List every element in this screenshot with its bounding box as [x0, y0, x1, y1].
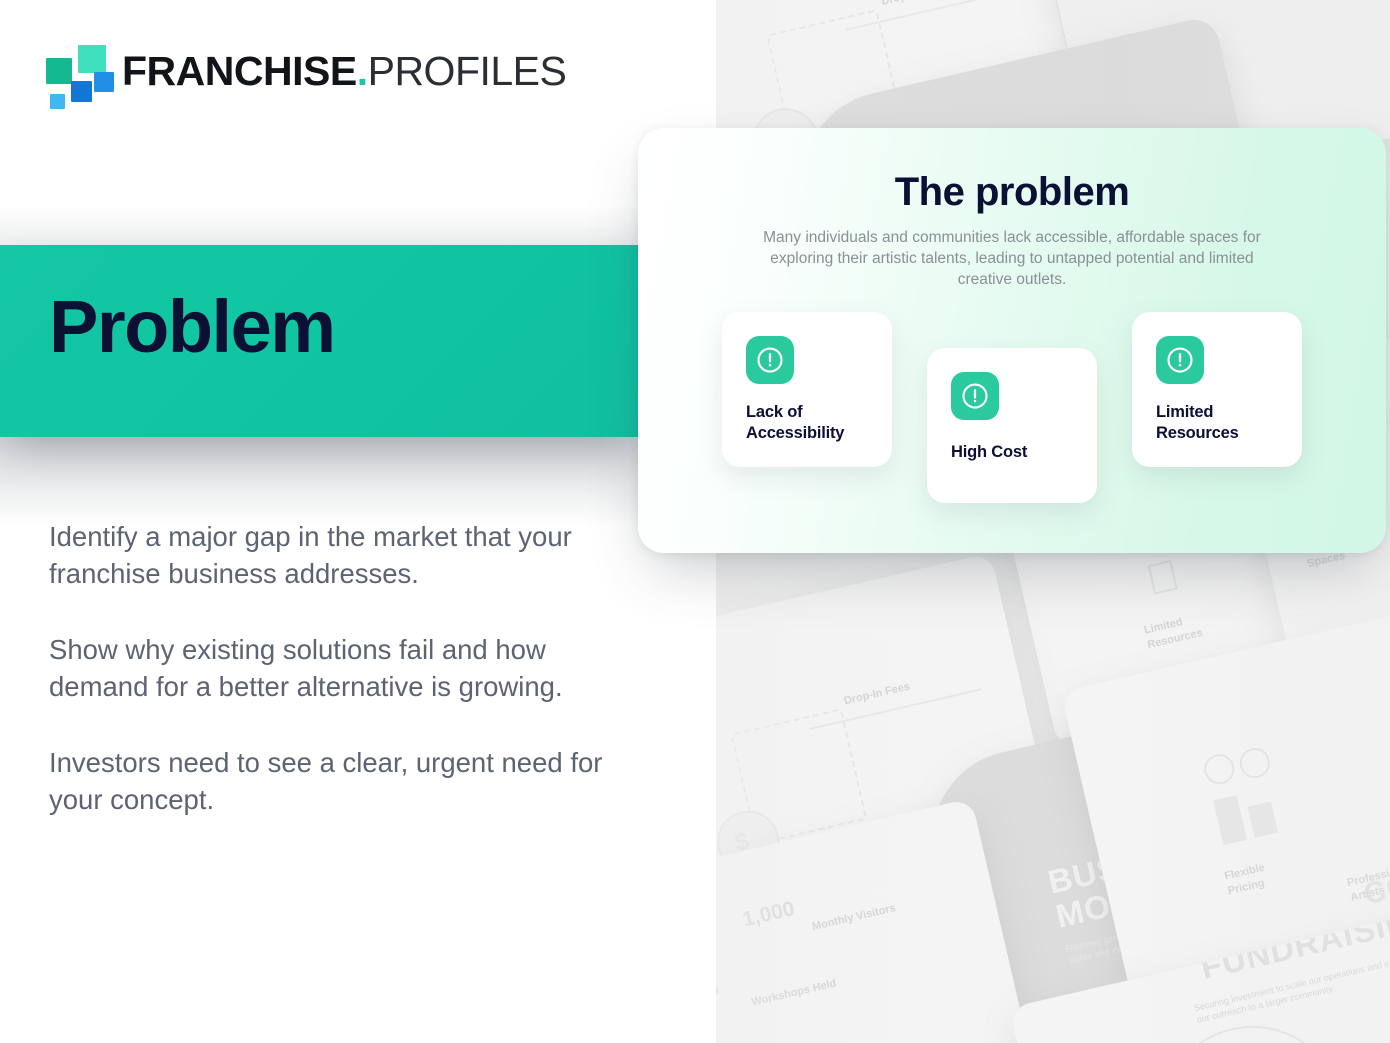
logo-squares-icon	[46, 44, 104, 98]
problem-tile-high-cost[interactable]: High Cost	[927, 348, 1097, 503]
alert-circle-icon	[951, 372, 999, 420]
description-text: Identify a major gap in the market that …	[49, 518, 619, 818]
description-paragraph-1: Identify a major gap in the market that …	[49, 518, 619, 592]
problem-tile-label: High Cost	[951, 442, 1083, 463]
left-content-panel: FRANCHISE.PROFILES Problem Identify a ma…	[0, 0, 716, 1043]
page-title: Problem	[49, 290, 335, 364]
bg-stat-number-2: 75	[716, 976, 722, 1005]
card-subtitle: Many individuals and communities lack ac…	[759, 227, 1265, 290]
slide-canvas: $ Drop-In Fees Session Workshops Commiss…	[0, 0, 1390, 1043]
bg-text-drop-in-fees-2: Drop-In Fees	[843, 681, 911, 708]
problem-tile-label: Lack of Accessibility	[746, 402, 878, 444]
band-shadow-bottom	[0, 437, 660, 527]
problem-tile-label: Limited Resources	[1156, 402, 1288, 444]
bg-text-limited-resources: Limited Resources	[1143, 604, 1237, 653]
brand-logo[interactable]: FRANCHISE.PROFILES	[46, 44, 566, 98]
bg-text-flexible-pricing: Flexible Pricing	[1223, 856, 1292, 900]
brand-name-bold: FRANCHISE	[122, 48, 357, 94]
problem-tile-limited-resources[interactable]: Limited Resources	[1132, 312, 1302, 467]
problem-tile-lack-of-accessibility[interactable]: Lack of Accessibility	[722, 312, 892, 467]
alert-circle-icon	[746, 336, 794, 384]
brand-wordmark: FRANCHISE.PROFILES	[122, 51, 566, 92]
band-shadow-top	[0, 205, 660, 247]
problem-preview-card[interactable]: The problem Many individuals and communi…	[638, 128, 1386, 553]
bg-stat-label-2: Workshops Held	[750, 977, 837, 1008]
alert-circle-icon	[1156, 336, 1204, 384]
brand-name-dot: .	[357, 48, 368, 94]
bg-stat-number-1: 1,000	[740, 897, 797, 932]
card-title: The problem	[638, 170, 1386, 215]
description-paragraph-3: Investors need to see a clear, urgent ne…	[49, 744, 619, 818]
section-heading-band: Problem	[0, 245, 639, 437]
brand-name-light: PROFILES	[368, 48, 567, 94]
bg-stat-label-1: Monthly Visitors	[811, 902, 897, 933]
description-paragraph-2: Show why existing solutions fail and how…	[49, 631, 619, 705]
problem-tiles: Lack of Accessibility High Cost	[708, 312, 1316, 512]
